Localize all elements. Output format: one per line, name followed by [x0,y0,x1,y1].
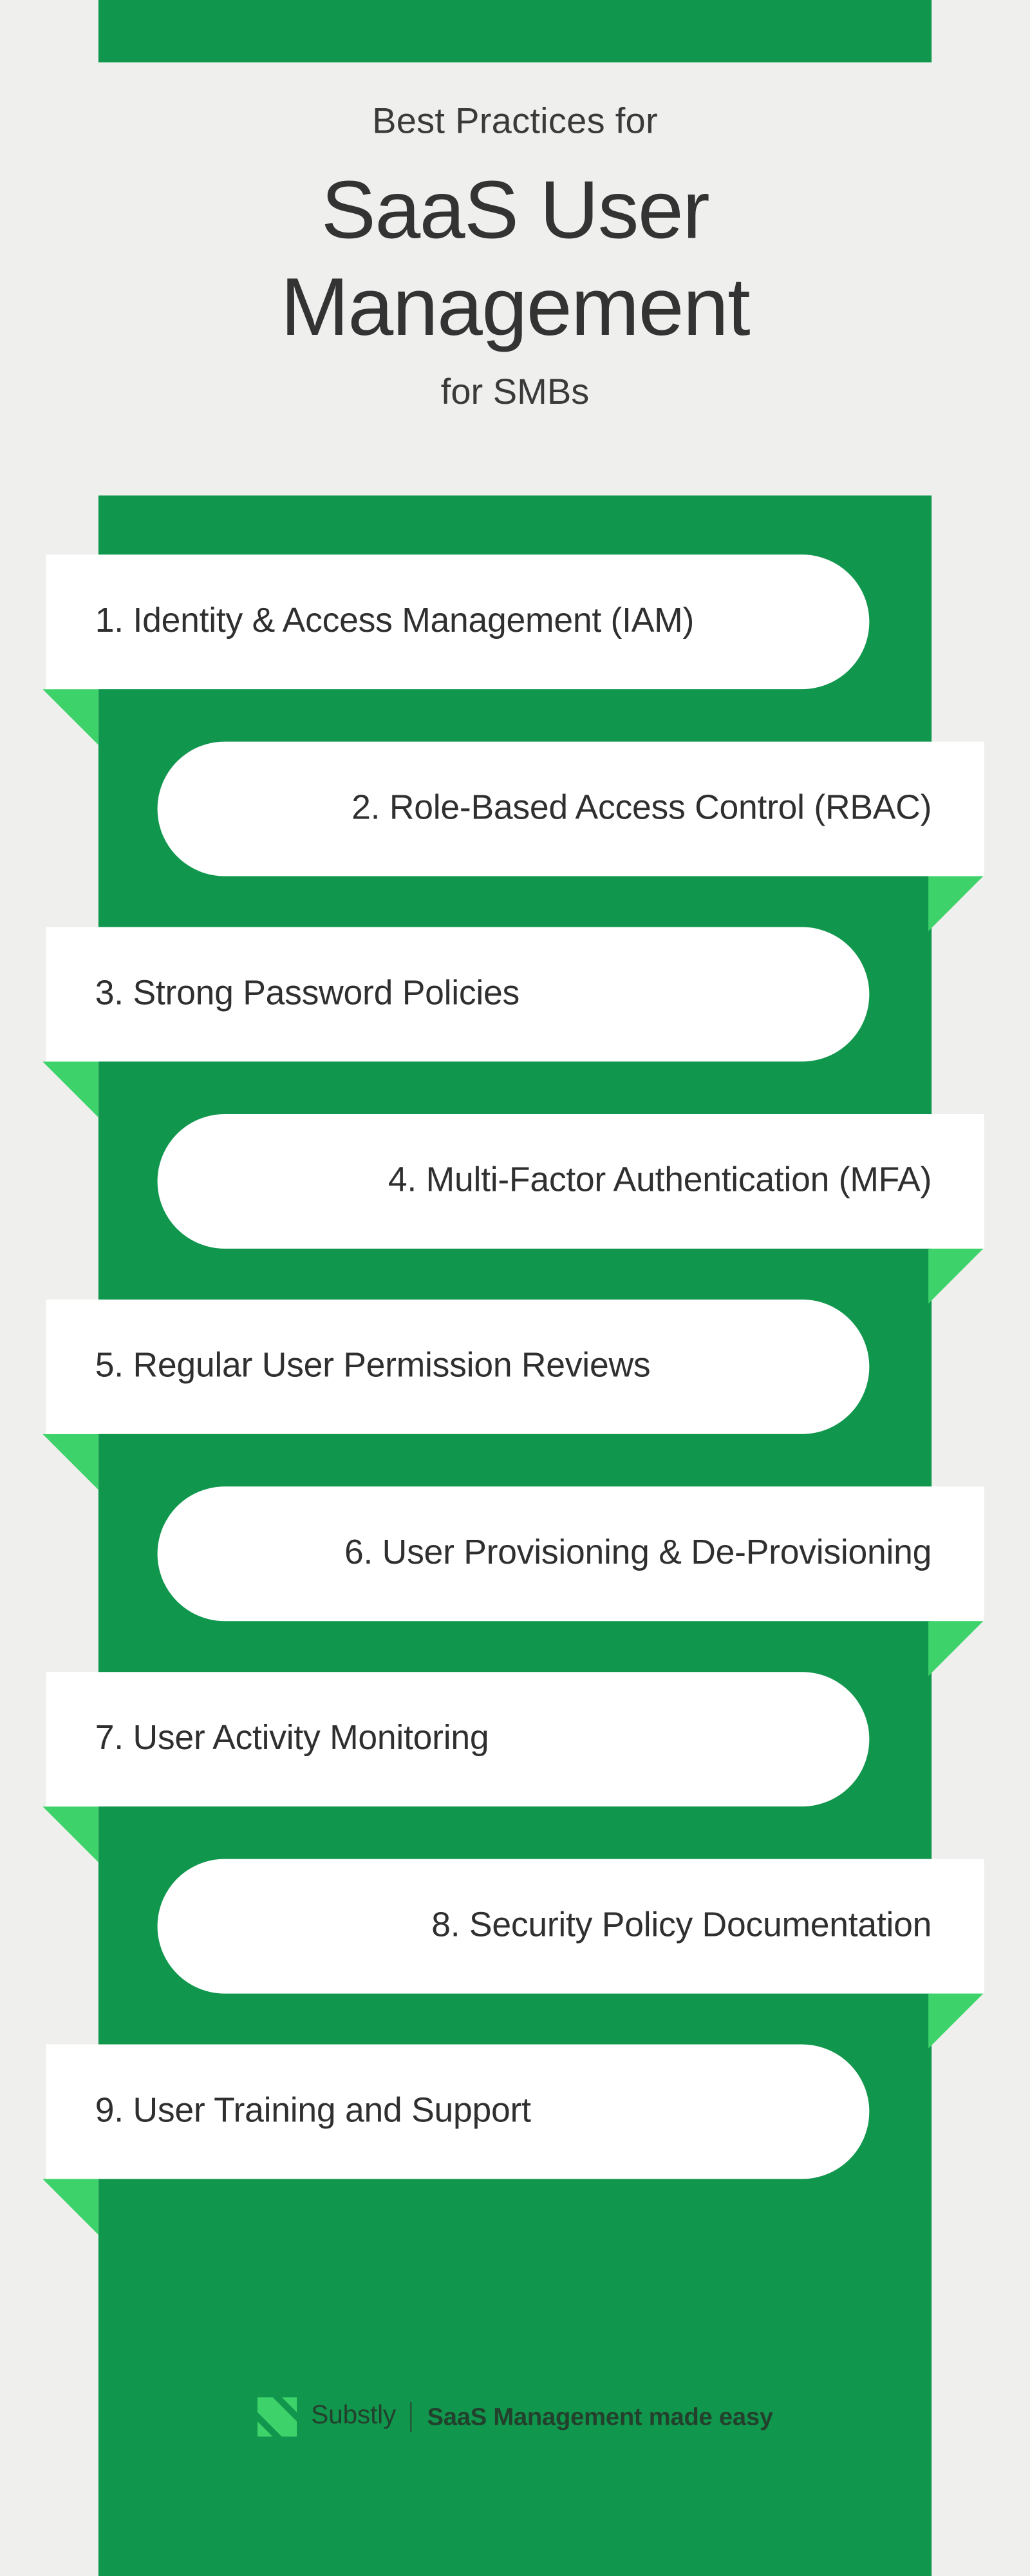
corner-fold-accent [928,1248,984,1304]
page-title-line-1: SaaS User [321,164,709,256]
corner-fold-accent [42,1806,98,1862]
corner-fold-accent [42,1061,98,1117]
list-item-label: 2. Role-Based Access Control (RBAC) [351,788,932,828]
list-item-label: 1. Identity & Access Management (IAM) [95,602,694,641]
list-item-label: 5. Regular User Permission Reviews [95,1347,651,1387]
corner-fold-accent [42,689,98,745]
corner-fold-accent [928,1620,984,1676]
corner-fold-accent [928,875,984,931]
page-title: SaaS User Management [0,162,1030,355]
list-item-label: 7. User Activity Monitoring [95,1719,489,1759]
infographic-canvas: Best Practices for SaaS User Management … [0,0,1030,2576]
page-title-line-2: Management [281,260,749,352]
list-item-label: 3. Strong Password Policies [95,974,520,1014]
list-item[interactable]: 5. Regular User Permission Reviews [46,1300,869,1434]
list-item[interactable]: 2. Role-Based Access Control (RBAC) [158,741,984,875]
list-item-label: 6. User Provisioning & De-Provisioning [344,1533,932,1573]
list-item-label: 8. Security Policy Documentation [431,1906,932,1945]
list-item[interactable]: 6. User Provisioning & De-Provisioning [158,1486,984,1620]
list-item-label: 9. User Training and Support [95,2092,531,2131]
corner-fold-accent [928,1993,984,2049]
corner-fold-accent [42,1434,98,1490]
list-item[interactable]: 8. Security Policy Documentation [158,1858,984,1993]
brand-name: Substly [311,2402,396,2432]
corner-fold-accent [42,2179,98,2235]
header-subline: for SMBs [0,368,1030,415]
header-block: Best Practices for SaaS User Management … [0,99,1030,415]
list-item[interactable]: 1. Identity & Access Management (IAM) [46,554,869,689]
list-item[interactable]: 4. Multi-Factor Authentication (MFA) [158,1113,984,1248]
list-item[interactable]: 9. User Training and Support [46,2045,869,2179]
header-eyebrow: Best Practices for [0,99,1030,146]
list-item[interactable]: 7. User Activity Monitoring [46,1672,869,1806]
green-column-top [98,0,932,62]
footer-logo-lockup: Substly SaaS Management made easy [98,2392,932,2441]
substly-s-mark-icon [257,2397,296,2436]
logo-divider [411,2402,413,2432]
list-item-label: 4. Multi-Factor Authentication (MFA) [388,1161,932,1200]
brand-tagline: SaaS Management made easy [427,2403,773,2430]
list-item[interactable]: 3. Strong Password Policies [46,927,869,1062]
